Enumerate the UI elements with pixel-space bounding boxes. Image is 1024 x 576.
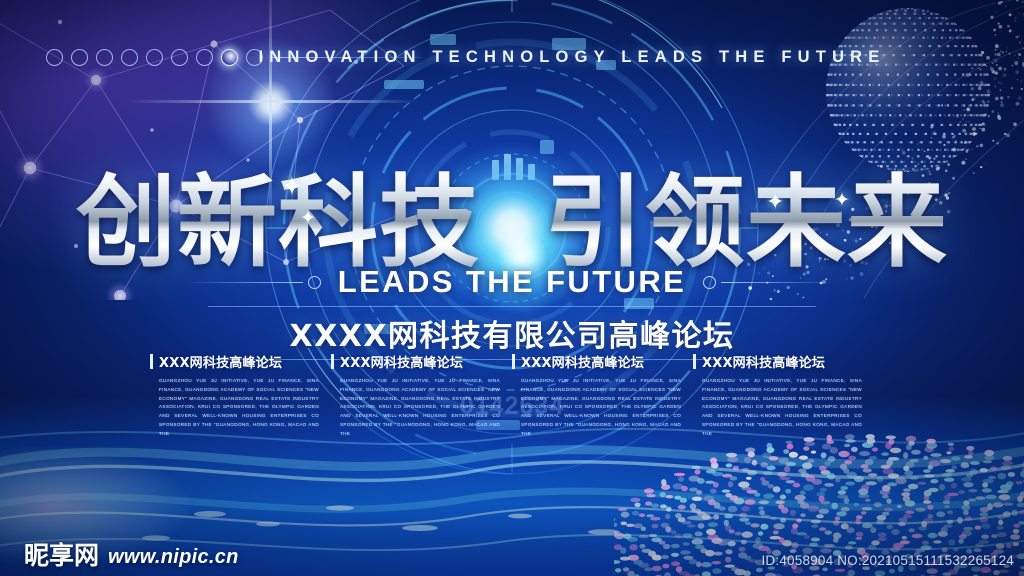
- brand-url-text[interactable]: www.nipic.cn: [108, 547, 239, 568]
- poster-canvas: INNOVATION TECHNOLOGY LEADS THE FUTURE 创…: [0, 0, 1024, 576]
- info-column-body: GUANGZHOU YUE JU INITIATIVE, YUE JU FINA…: [340, 377, 512, 439]
- info-column-body: GUANGZHOU YUE JU INITIATIVE, YUE JU FINA…: [702, 377, 874, 439]
- info-columns: XXX网科技高峰论坛GUANGZHOU YUE JU INITIATIVE, Y…: [150, 352, 874, 439]
- subtitle-cn-text: XXXX网科技有限公司高峰论坛: [289, 311, 734, 355]
- image-id-code: ID:4058904 NO:20210515111532265124: [761, 553, 1014, 568]
- brand-logo-text: 昵享网: [24, 543, 99, 568]
- tagline-text: INNOVATION TECHNOLOGY LEADS THE FUTURE: [258, 48, 885, 67]
- info-column: XXX网科技高峰论坛GUANGZHOU YUE JU INITIATIVE, Y…: [693, 352, 874, 439]
- left-rule: [193, 276, 326, 289]
- info-column-heading: XXX网科技高峰论坛: [340, 352, 512, 371]
- info-column-heading: XXX网科技高峰论坛: [702, 352, 874, 371]
- subtitle-en-text: LEADS THE FUTURE: [338, 264, 686, 300]
- site-brand: 昵享网 www.nipic.cn: [24, 543, 239, 568]
- poster-content: INNOVATION TECHNOLOGY LEADS THE FUTURE 创…: [0, 0, 1024, 576]
- tagline-wrapper: INNOVATION TECHNOLOGY LEADS THE FUTURE: [0, 44, 1024, 70]
- info-column-heading: XXX网科技高峰论坛: [521, 352, 693, 371]
- info-column-heading: XXX网科技高峰论坛: [159, 352, 331, 371]
- info-column: XXX网科技高峰论坛GUANGZHOU YUE JU INITIATIVE, Y…: [331, 352, 512, 439]
- subtitle-en-row: LEADS THE FUTURE: [0, 262, 1024, 302]
- right-rule: [698, 276, 831, 289]
- info-column: XXX网科技高峰论坛GUANGZHOU YUE JU INITIATIVE, Y…: [150, 352, 331, 439]
- info-column: XXX网科技高峰论坛GUANGZHOU YUE JU INITIATIVE, Y…: [512, 352, 693, 439]
- info-column-body: GUANGZHOU YUE JU INITIATIVE, YUE JU FINA…: [521, 377, 693, 439]
- info-column-body: GUANGZHOU YUE JU INITIATIVE, YUE JU FINA…: [159, 377, 331, 439]
